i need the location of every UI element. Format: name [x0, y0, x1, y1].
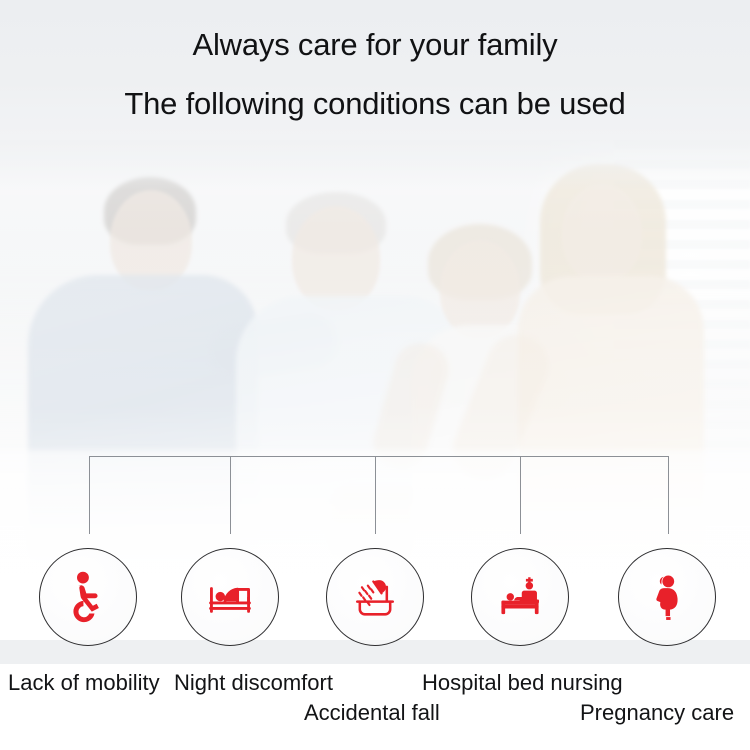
nurse-bedside-icon — [493, 570, 547, 624]
use-case-circle-hospital-bed-nursing[interactable] — [471, 548, 569, 646]
pregnant-woman-icon — [640, 570, 694, 624]
bed-sleeping-icon — [203, 570, 257, 624]
use-case-captions: Lack of mobility Night discomfort Hospit… — [0, 664, 750, 750]
caption-lack-of-mobility: Lack of mobility — [8, 670, 160, 696]
caption-accidental-fall: Accidental fall — [304, 700, 440, 726]
wheelchair-icon — [61, 570, 115, 624]
headline-line-1: Always care for your family — [0, 27, 750, 63]
shower-bathtub-icon — [348, 570, 402, 624]
promo-poster: Always care for your family The followin… — [0, 0, 750, 750]
caption-pregnancy-care: Pregnancy care — [580, 700, 734, 726]
use-case-icon-row — [0, 548, 750, 650]
use-case-circle-night-discomfort[interactable] — [181, 548, 279, 646]
headline-line-2: The following conditions can be used — [0, 86, 750, 122]
headline-block: Always care for your family The followin… — [0, 0, 750, 140]
use-case-circle-pregnancy-care[interactable] — [618, 548, 716, 646]
use-case-circle-lack-of-mobility[interactable] — [39, 548, 137, 646]
caption-night-discomfort: Night discomfort — [174, 670, 333, 696]
caption-hospital-bed-nursing: Hospital bed nursing — [422, 670, 623, 696]
use-case-circle-accidental-fall[interactable] — [326, 548, 424, 646]
